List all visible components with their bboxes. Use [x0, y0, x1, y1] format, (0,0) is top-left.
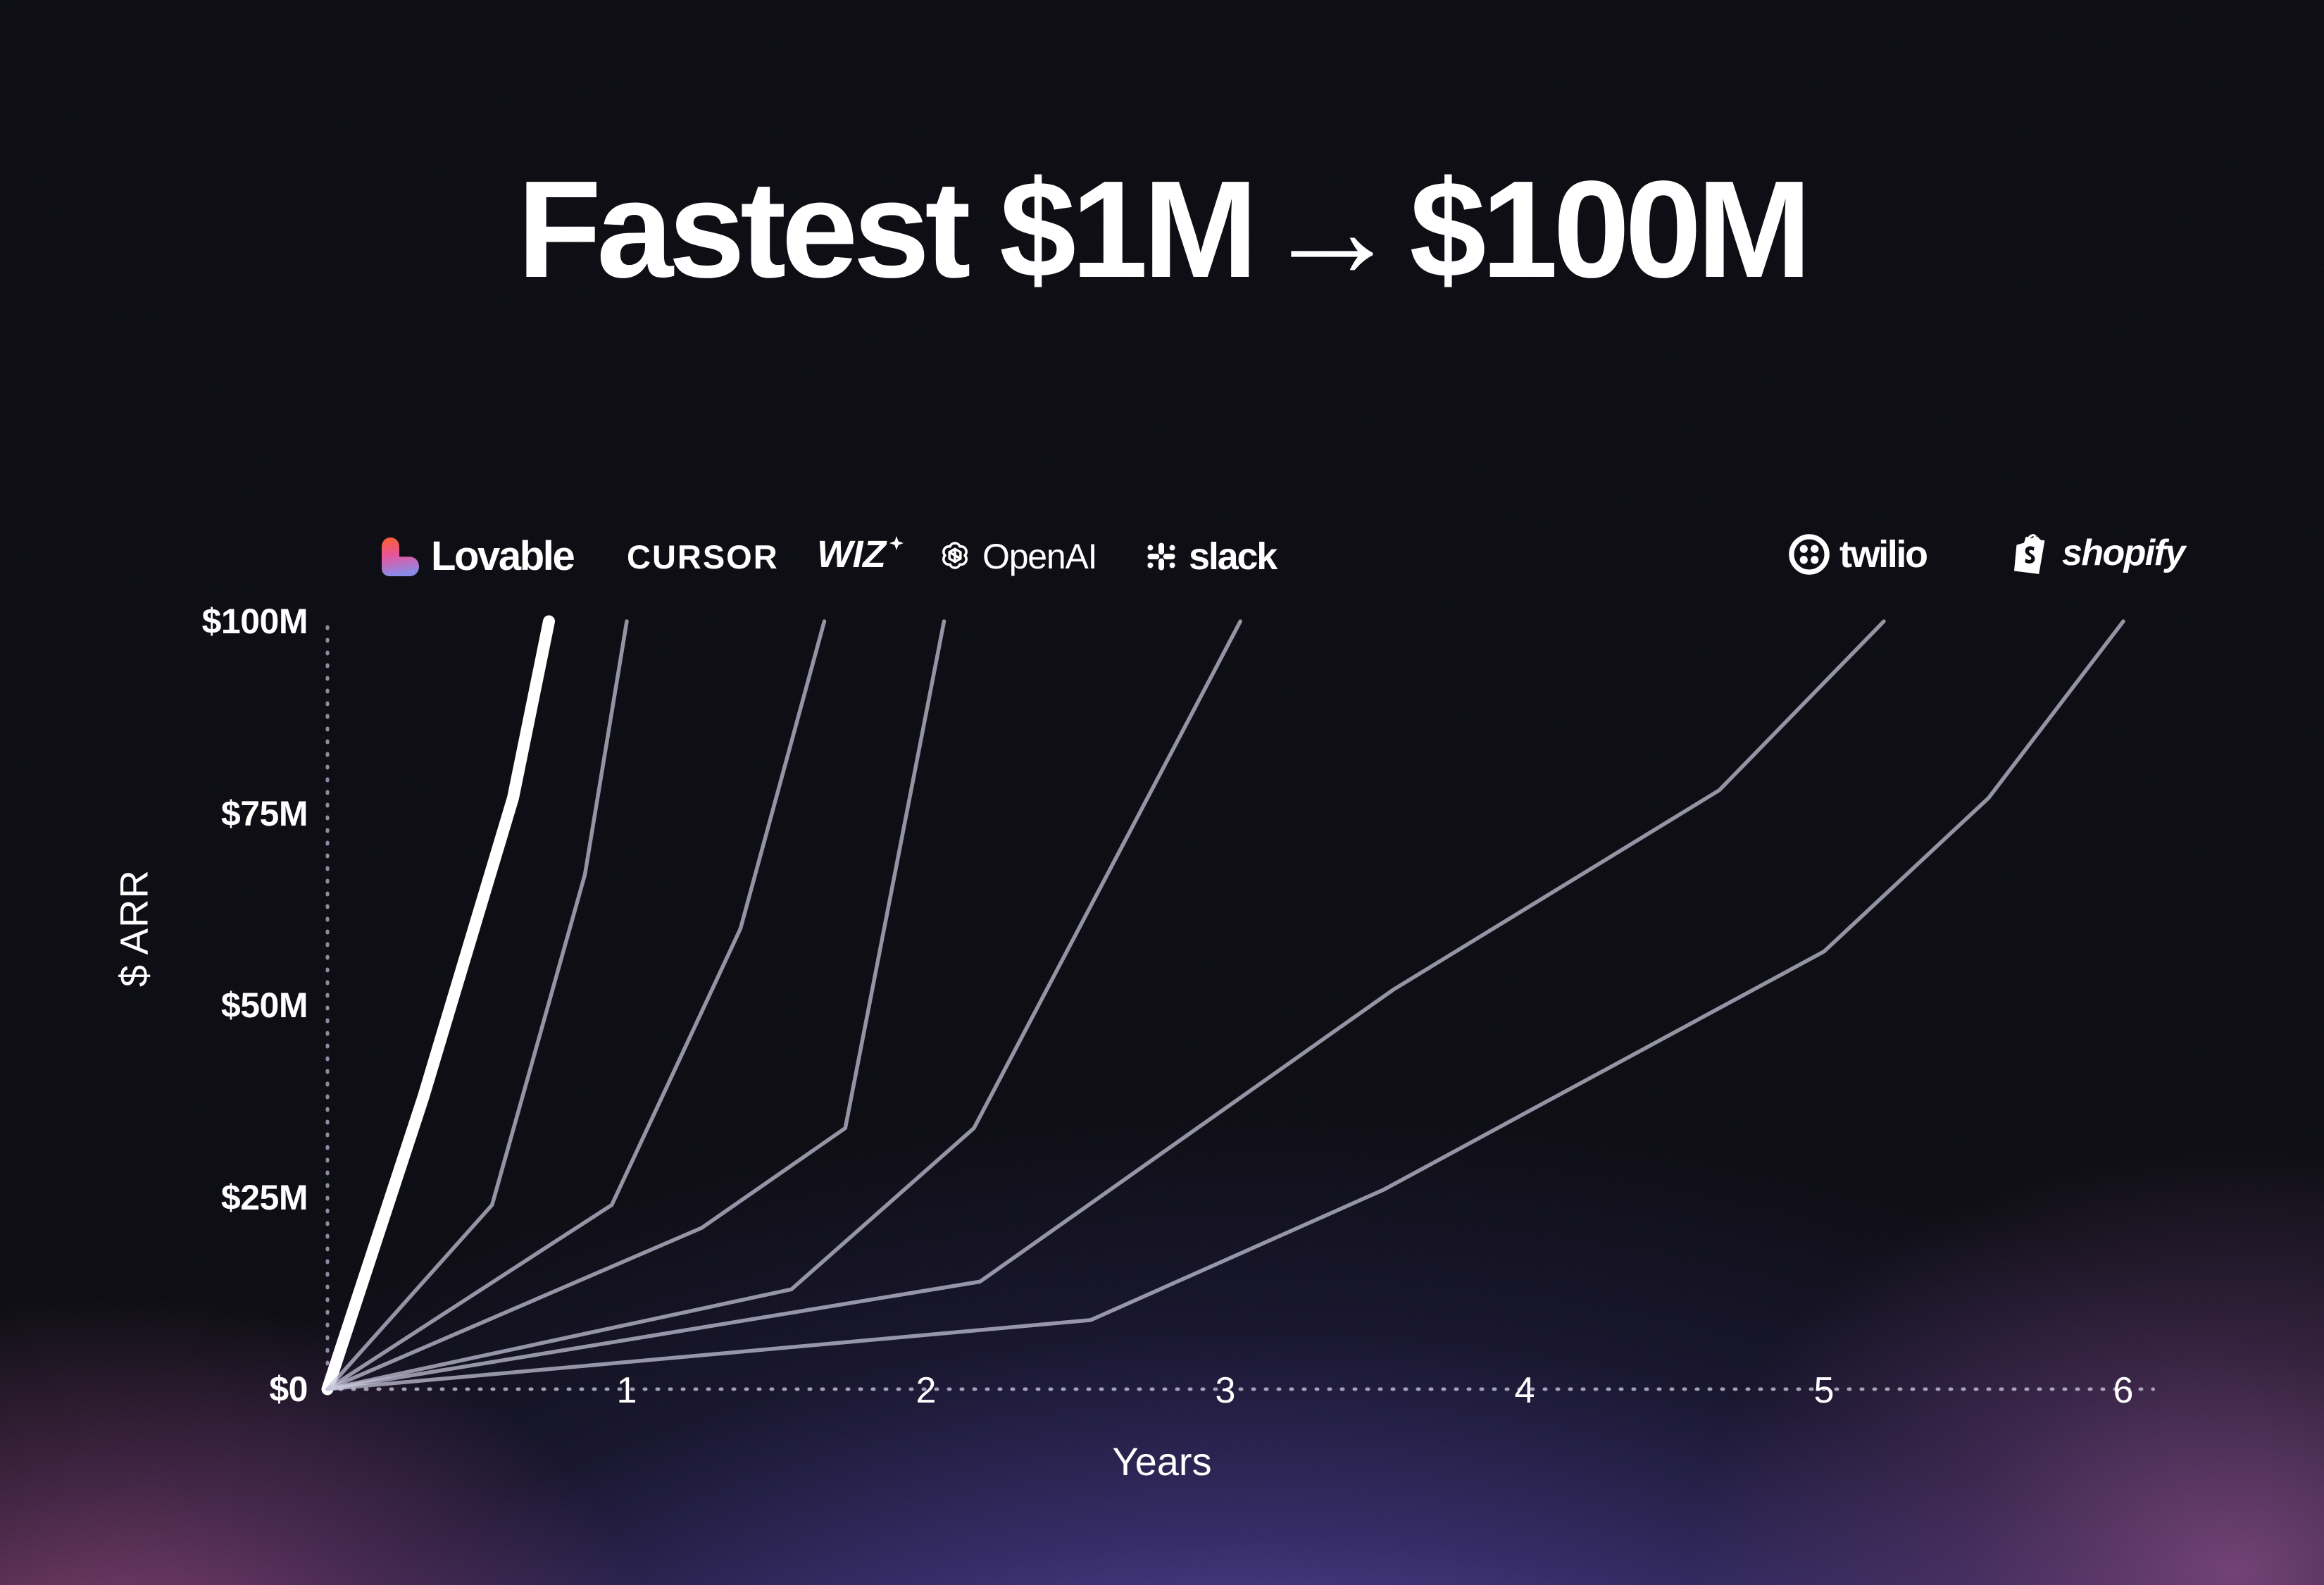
legend-label-cursor: CURSOR — [627, 540, 779, 573]
x-tick-label: 1 — [617, 1369, 637, 1412]
legend-label-lovable: Lovable — [431, 536, 573, 577]
legend-label-slack: slack — [1189, 537, 1276, 576]
x-tick-label: 3 — [1216, 1369, 1236, 1412]
legend-item-slack[interactable]: slack — [1144, 532, 1276, 581]
lovable-heart-icon — [380, 536, 420, 577]
slack-hash-icon — [1144, 540, 1178, 573]
legend-item-lovable[interactable]: Lovable — [380, 532, 573, 581]
legend-label-shopify: shopify — [2062, 535, 2185, 571]
x-axis-label: Years — [0, 1438, 2324, 1484]
x-axis-tick-labels: 123456 — [0, 0, 2324, 1585]
x-tick-label: 6 — [2113, 1369, 2134, 1412]
chart-canvas: Fastest $1M→$100M $0$25M$50M$75M$100M 12… — [0, 0, 2324, 1585]
legend-item-openai[interactable]: OpenAI — [937, 532, 1097, 581]
legend-item-shopify[interactable]: shopify — [2014, 528, 2185, 578]
openai-flower-icon — [937, 538, 973, 575]
legend-label-openai: OpenAI — [982, 539, 1097, 574]
x-tick-label: 2 — [916, 1369, 937, 1412]
x-tick-label: 5 — [1814, 1369, 1835, 1412]
y-axis-label: $ ARR — [111, 837, 157, 1020]
legend-item-twilio[interactable]: twilio — [1789, 530, 1927, 579]
x-tick-label: 4 — [1515, 1369, 1535, 1412]
legend-item-cursor[interactable]: CURSOR — [627, 532, 779, 581]
legend-label-twilio: twilio — [1839, 535, 1927, 573]
legend-item-wiz[interactable]: WIZ — [817, 530, 906, 579]
shopify-bag-icon — [2014, 532, 2052, 574]
legend-label-wiz: WIZ — [817, 535, 885, 573]
wiz-star-icon — [887, 533, 906, 576]
twilio-dots-icon — [1789, 534, 1830, 575]
